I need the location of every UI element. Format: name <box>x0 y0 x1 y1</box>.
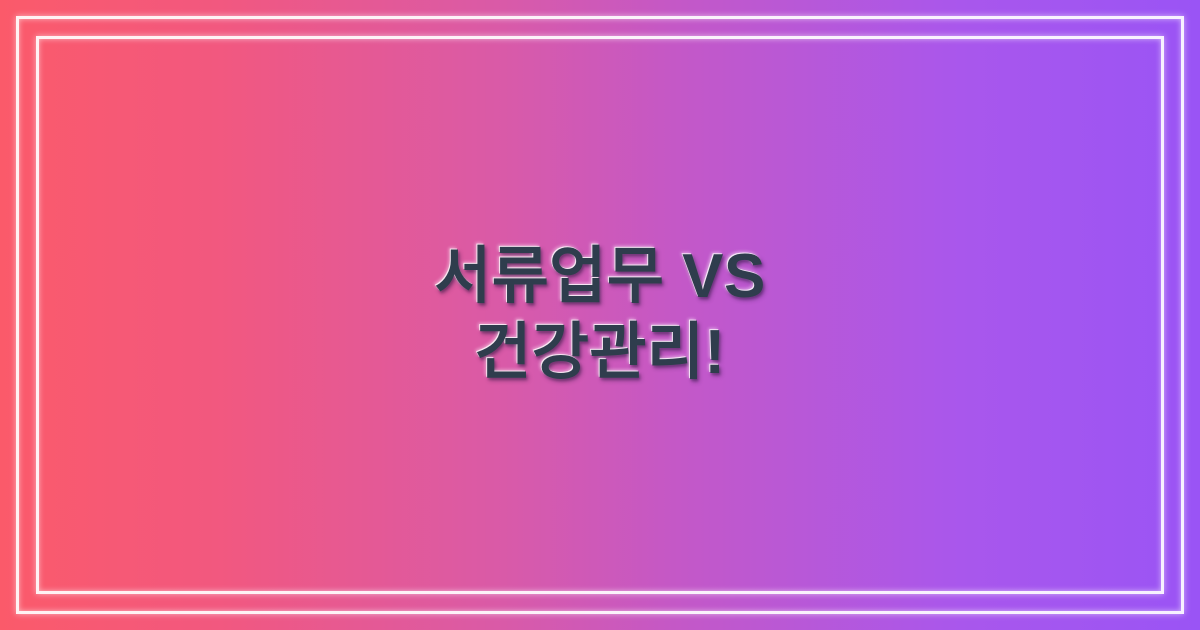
title-line-1: 서류업무 VS <box>434 239 766 315</box>
title-line-2: 건강관리! <box>474 315 725 391</box>
title-block: 서류업무 VS 건강관리! <box>0 0 1200 630</box>
thumbnail-canvas: 서류업무 VS 건강관리! <box>0 0 1200 630</box>
